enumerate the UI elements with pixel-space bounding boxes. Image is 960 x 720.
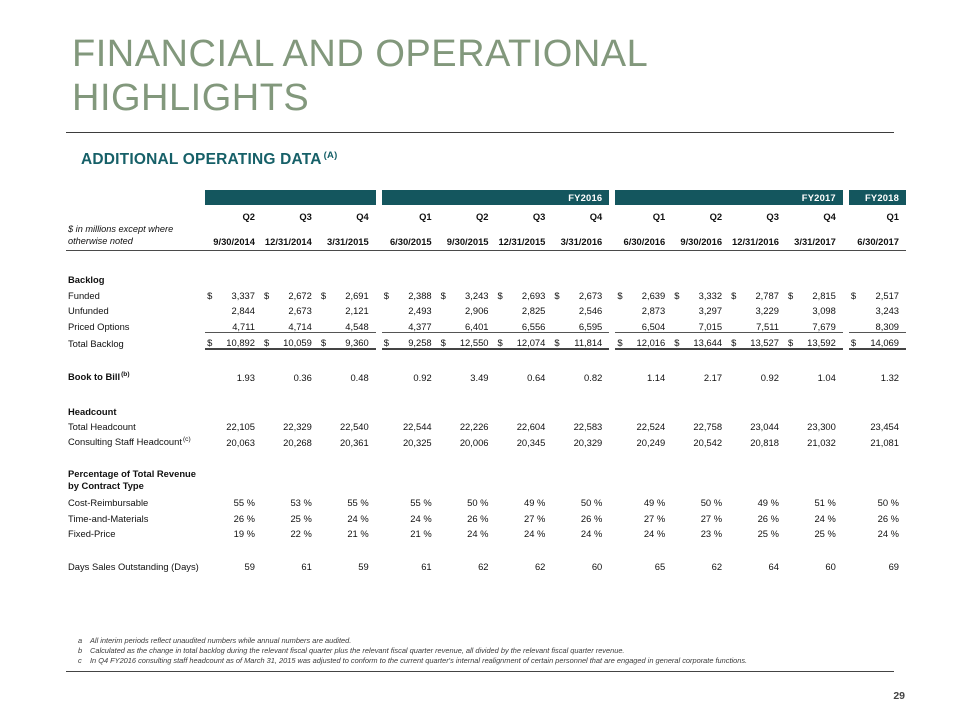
period-end-date: 12/31/2014 — [262, 224, 319, 251]
section-heading-pad — [786, 400, 843, 417]
table-row: Days Sales Outstanding (Days)59615961626… — [66, 556, 906, 572]
data-cell: 20,063 — [205, 432, 262, 448]
section-heading-pad — [262, 400, 319, 417]
quarter-row-stub — [66, 205, 205, 224]
data-cell: 25 % — [262, 508, 319, 524]
data-cell: $2,639 — [615, 285, 672, 301]
data-cell: $12,016 — [615, 332, 672, 349]
data-cell: 21 % — [319, 524, 376, 540]
operating-data-table: FY2016FY2017FY2018 Q2Q3Q4Q1Q2Q3Q4Q1Q2Q3Q… — [66, 190, 906, 572]
row-label: Priced Options — [66, 316, 205, 332]
currency-symbol: $ — [498, 290, 503, 301]
footnote-marker: b — [66, 646, 90, 656]
section-heading: Headcount — [66, 400, 205, 417]
period-end-date: 6/30/2016 — [615, 224, 672, 251]
data-cell: $10,059 — [262, 332, 319, 349]
units-note-line2: otherwise noted — [68, 236, 205, 248]
data-cell: 20,542 — [672, 432, 729, 448]
data-cell: 50 % — [849, 493, 906, 509]
data-cell: 8,309 — [849, 316, 906, 332]
section-heading-pad — [382, 465, 439, 493]
row-label: Unfunded — [66, 301, 205, 317]
currency-symbol: $ — [674, 337, 679, 348]
footnote-marker: a — [66, 636, 90, 646]
table-row: Funded$3,337$2,672$2,691$2,388$3,243$2,6… — [66, 285, 906, 301]
data-cell: 59 — [319, 556, 376, 572]
data-cell: 22,583 — [552, 417, 609, 433]
data-cell: 26 % — [849, 508, 906, 524]
data-cell: 25 % — [729, 524, 786, 540]
quarter-header: Q3 — [729, 205, 786, 224]
section-heading-pad — [439, 465, 496, 493]
section-heading-pad — [615, 465, 672, 493]
section-heading-pad — [552, 465, 609, 493]
data-cell: 6,595 — [552, 316, 609, 332]
title-divider — [66, 132, 894, 133]
data-cell: 26 % — [552, 508, 609, 524]
data-cell: 27 % — [615, 508, 672, 524]
data-cell: 62 — [496, 556, 553, 572]
data-cell: $10,892 — [205, 332, 262, 349]
currency-symbol: $ — [498, 337, 503, 348]
data-cell: $2,388 — [382, 285, 439, 301]
data-cell: 7,015 — [672, 316, 729, 332]
period-end-date: 9/30/2016 — [672, 224, 729, 251]
section-heading-pad — [552, 268, 609, 285]
data-cell: $2,672 — [262, 285, 319, 301]
footnote-text: Calculated as the change in total backlo… — [90, 646, 625, 655]
page-number: 29 — [893, 690, 905, 702]
footnotes: aAll interim periods reflect unaudited n… — [66, 636, 894, 672]
data-cell: 20,249 — [615, 432, 672, 448]
data-cell: $13,592 — [786, 332, 843, 349]
data-cell: 22,226 — [439, 417, 496, 433]
section-heading-row: Percentage of Total Revenueby Contract T… — [66, 465, 906, 493]
table-row: Consulting Staff Headcount(c)20,06320,26… — [66, 432, 906, 448]
data-cell: 60 — [786, 556, 843, 572]
data-cell: 24 % — [439, 524, 496, 540]
section-heading-pad — [439, 268, 496, 285]
section-heading-pad — [439, 400, 496, 417]
table-row: Cost-Reimbursable55 %53 %55 %55 %50 %49 … — [66, 493, 906, 509]
data-cell: 20,361 — [319, 432, 376, 448]
quarter-header: Q2 — [672, 205, 729, 224]
section-heading-pad — [496, 465, 553, 493]
currency-symbol: $ — [851, 337, 856, 348]
period-end-date: 3/31/2016 — [552, 224, 609, 251]
fiscal-year-band-row: FY2016FY2017FY2018 — [66, 190, 906, 205]
data-cell: 22,524 — [615, 417, 672, 433]
table-row: Total Backlog$10,892$10,059$9,360$9,258$… — [66, 332, 906, 349]
period-end-date: 9/30/2015 — [439, 224, 496, 251]
section-spacer — [66, 383, 906, 400]
data-cell: 22,105 — [205, 417, 262, 433]
data-cell: 22,544 — [382, 417, 439, 433]
row-label: Days Sales Outstanding (Days) — [66, 556, 205, 572]
slide: FINANCIAL AND OPERATIONAL HIGHLIGHTS ADD… — [0, 0, 960, 720]
data-cell: 23,300 — [786, 417, 843, 433]
quarter-header: Q4 — [319, 205, 376, 224]
data-cell: 2.17 — [672, 367, 729, 383]
data-cell: $2,673 — [552, 285, 609, 301]
data-cell: $9,360 — [319, 332, 376, 349]
period-end-date-row: $ in millions except whereotherwise note… — [66, 224, 906, 251]
section-spacer — [66, 539, 906, 556]
data-cell: 24 % — [615, 524, 672, 540]
section-heading-pad — [319, 268, 376, 285]
currency-symbol: $ — [731, 290, 736, 301]
data-cell: $14,069 — [849, 332, 906, 349]
data-cell: 2,493 — [382, 301, 439, 317]
footnote-item: bCalculated as the change in total backl… — [66, 646, 894, 656]
data-cell: 20,818 — [729, 432, 786, 448]
currency-symbol: $ — [264, 290, 269, 301]
quarter-header: Q2 — [439, 205, 496, 224]
data-cell: $3,337 — [205, 285, 262, 301]
row-label: Book to Bill(b) — [66, 367, 205, 383]
section-heading-pad — [849, 465, 906, 493]
data-cell: 3,243 — [849, 301, 906, 317]
footnote-marker: c — [66, 656, 90, 666]
data-cell: 1.04 — [786, 367, 843, 383]
currency-symbol: $ — [441, 290, 446, 301]
data-cell: 0.64 — [496, 367, 553, 383]
period-end-date: 9/30/2014 — [205, 224, 262, 251]
section-heading-pad — [319, 465, 376, 493]
quarter-header: Q4 — [786, 205, 843, 224]
section-heading-line1: Percentage of Total Revenue — [68, 468, 205, 481]
data-cell: 2,546 — [552, 301, 609, 317]
data-cell: 55 % — [205, 493, 262, 509]
data-cell: $2,815 — [786, 285, 843, 301]
table-body: BacklogFunded$3,337$2,672$2,691$2,388$3,… — [66, 251, 906, 572]
data-cell: 2,844 — [205, 301, 262, 317]
data-cell: 55 % — [319, 493, 376, 509]
table-row: Time-and-Materials26 %25 %24 %24 %26 %27… — [66, 508, 906, 524]
section-heading-pad — [849, 268, 906, 285]
data-cell: $2,517 — [849, 285, 906, 301]
row-label: Funded — [66, 285, 205, 301]
period-end-date: 3/31/2017 — [786, 224, 843, 251]
data-cell: $2,787 — [729, 285, 786, 301]
data-cell: 0.82 — [552, 367, 609, 383]
data-cell: 3,098 — [786, 301, 843, 317]
section-heading-pad — [262, 268, 319, 285]
subtitle-footnote-marker: (A) — [324, 150, 338, 161]
section-heading-pad — [205, 465, 262, 493]
data-cell: 0.36 — [262, 367, 319, 383]
data-cell: $2,691 — [319, 285, 376, 301]
section-heading-pad — [849, 400, 906, 417]
data-cell: 23 % — [672, 524, 729, 540]
section-heading-pad — [672, 400, 729, 417]
fiscal-year-band-fy2017: FY2017 — [615, 190, 842, 205]
data-cell: 22,540 — [319, 417, 376, 433]
data-cell: 3,297 — [672, 301, 729, 317]
section-heading-pad — [786, 268, 843, 285]
data-cell: 20,345 — [496, 432, 553, 448]
section-heading-pad — [205, 400, 262, 417]
data-cell: 19 % — [205, 524, 262, 540]
table-row: Total Headcount22,10522,32922,54022,5442… — [66, 417, 906, 433]
section-spacer — [66, 448, 906, 465]
data-cell: 50 % — [552, 493, 609, 509]
band-row-stub — [66, 190, 205, 205]
footnote-item: cIn Q4 FY2016 consulting staff headcount… — [66, 656, 894, 666]
period-end-date: 12/31/2016 — [729, 224, 786, 251]
currency-symbol: $ — [207, 290, 212, 301]
section-heading-pad — [672, 268, 729, 285]
subtitle-text: ADDITIONAL OPERATING DATA — [81, 151, 322, 168]
data-cell: 0.48 — [319, 367, 376, 383]
data-cell: 6,556 — [496, 316, 553, 332]
data-cell: 1.32 — [849, 367, 906, 383]
data-cell: 20,329 — [552, 432, 609, 448]
data-cell: 20,006 — [439, 432, 496, 448]
data-cell: 21 % — [382, 524, 439, 540]
section-heading-pad — [552, 400, 609, 417]
data-cell: 27 % — [672, 508, 729, 524]
data-cell: 25 % — [786, 524, 843, 540]
row-footnote-marker: (b) — [121, 371, 129, 378]
quarter-header: Q1 — [849, 205, 906, 224]
data-cell: 22 % — [262, 524, 319, 540]
row-label: Time-and-Materials — [66, 508, 205, 524]
data-cell: 21,032 — [786, 432, 843, 448]
data-cell: 24 % — [382, 508, 439, 524]
data-cell: 22,329 — [262, 417, 319, 433]
data-cell: $12,550 — [439, 332, 496, 349]
data-cell: 49 % — [496, 493, 553, 509]
data-cell: 22,604 — [496, 417, 553, 433]
data-cell: 24 % — [496, 524, 553, 540]
footnote-text: All interim periods reflect unaudited nu… — [90, 636, 351, 645]
data-cell: 65 — [615, 556, 672, 572]
data-cell: $3,332 — [672, 285, 729, 301]
data-cell: 23,044 — [729, 417, 786, 433]
data-cell: 22,758 — [672, 417, 729, 433]
period-end-date: 6/30/2015 — [382, 224, 439, 251]
currency-symbol: $ — [617, 337, 622, 348]
table-header: FY2016FY2017FY2018 Q2Q3Q4Q1Q2Q3Q4Q1Q2Q3Q… — [66, 190, 906, 251]
section-heading-pad — [262, 465, 319, 493]
data-cell: $12,074 — [496, 332, 553, 349]
footnote-divider — [66, 671, 894, 672]
section-heading-pad — [672, 465, 729, 493]
data-cell: 26 % — [729, 508, 786, 524]
currency-symbol: $ — [264, 337, 269, 348]
section-spacer — [66, 251, 906, 269]
section-heading: Percentage of Total Revenueby Contract T… — [66, 465, 205, 493]
data-cell: 62 — [672, 556, 729, 572]
data-cell: $3,243 — [439, 285, 496, 301]
data-cell: $13,644 — [672, 332, 729, 349]
data-cell: 59 — [205, 556, 262, 572]
quarter-header: Q2 — [205, 205, 262, 224]
section-heading-row: Backlog — [66, 268, 906, 285]
data-cell: 7,511 — [729, 316, 786, 332]
section-heading-pad — [729, 268, 786, 285]
data-cell: 20,325 — [382, 432, 439, 448]
currency-symbol: $ — [441, 337, 446, 348]
data-cell: 27 % — [496, 508, 553, 524]
currency-symbol: $ — [788, 337, 793, 348]
section-heading-pad — [382, 268, 439, 285]
fiscal-year-band-fy2016: FY2016 — [382, 190, 609, 205]
currency-symbol: $ — [674, 290, 679, 301]
table-row: Priced Options4,7114,7144,5484,3776,4016… — [66, 316, 906, 332]
units-note-line1: $ in millions except where — [68, 224, 205, 236]
section-heading-pad — [382, 400, 439, 417]
data-cell: 20,268 — [262, 432, 319, 448]
data-cell: 51 % — [786, 493, 843, 509]
data-cell: 0.92 — [382, 367, 439, 383]
section-heading: Backlog — [66, 268, 205, 285]
section-heading-pad — [729, 400, 786, 417]
section-heading-row: Headcount — [66, 400, 906, 417]
section-heading-pad — [205, 268, 262, 285]
currency-symbol: $ — [321, 337, 326, 348]
units-note: $ in millions except whereotherwise note… — [66, 224, 205, 251]
data-cell: 1.14 — [615, 367, 672, 383]
data-cell: 7,679 — [786, 316, 843, 332]
row-label: Fixed-Price — [66, 524, 205, 540]
data-cell: $13,527 — [729, 332, 786, 349]
data-cell: 26 % — [439, 508, 496, 524]
data-cell: 49 % — [729, 493, 786, 509]
data-cell: 2,825 — [496, 301, 553, 317]
period-end-date: 6/30/2017 — [849, 224, 906, 251]
data-cell: 4,377 — [382, 316, 439, 332]
data-cell: $9,258 — [382, 332, 439, 349]
section-subtitle: ADDITIONAL OPERATING DATA(A) — [81, 150, 337, 169]
data-cell: 24 % — [786, 508, 843, 524]
currency-symbol: $ — [321, 290, 326, 301]
row-footnote-marker: (c) — [183, 436, 191, 443]
fiscal-year-band-unlabeled — [205, 190, 376, 205]
currency-symbol: $ — [554, 337, 559, 348]
data-cell: 2,873 — [615, 301, 672, 317]
section-heading-pad — [496, 400, 553, 417]
currency-symbol: $ — [384, 337, 389, 348]
data-cell: 24 % — [849, 524, 906, 540]
currency-symbol: $ — [617, 290, 622, 301]
data-cell: 3,229 — [729, 301, 786, 317]
data-cell: 53 % — [262, 493, 319, 509]
quarter-header: Q1 — [615, 205, 672, 224]
table-row: Book to Bill(b)1.930.360.480.923.490.640… — [66, 367, 906, 383]
data-cell: 60 — [552, 556, 609, 572]
quarter-header: Q1 — [382, 205, 439, 224]
row-label: Total Backlog — [66, 332, 205, 349]
quarter-header: Q3 — [496, 205, 553, 224]
table-row: Unfunded2,8442,6732,1212,4932,9062,8252,… — [66, 301, 906, 317]
data-cell: 64 — [729, 556, 786, 572]
data-cell: 4,714 — [262, 316, 319, 332]
page-title: FINANCIAL AND OPERATIONAL HIGHLIGHTS — [72, 32, 772, 120]
data-cell: 6,504 — [615, 316, 672, 332]
section-heading-pad — [319, 400, 376, 417]
data-cell: 0.92 — [729, 367, 786, 383]
data-cell: 3.49 — [439, 367, 496, 383]
data-cell: 4,711 — [205, 316, 262, 332]
data-cell: 24 % — [552, 524, 609, 540]
row-label: Total Headcount — [66, 417, 205, 433]
data-cell: 1.93 — [205, 367, 262, 383]
data-cell: 49 % — [615, 493, 672, 509]
section-spacer — [66, 349, 906, 367]
period-end-date: 12/31/2015 — [496, 224, 553, 251]
quarter-header: Q3 — [262, 205, 319, 224]
section-heading-pad — [786, 465, 843, 493]
quarter-header-row: Q2Q3Q4Q1Q2Q3Q4Q1Q2Q3Q4Q1 — [66, 205, 906, 224]
data-cell: 50 % — [672, 493, 729, 509]
section-heading-pad — [496, 268, 553, 285]
data-cell: 61 — [382, 556, 439, 572]
currency-symbol: $ — [554, 290, 559, 301]
data-cell: $2,693 — [496, 285, 553, 301]
section-heading-line2: by Contract Type — [68, 480, 205, 493]
table-row: Fixed-Price19 %22 %21 %21 %24 %24 %24 %2… — [66, 524, 906, 540]
row-label: Consulting Staff Headcount(c) — [66, 432, 205, 448]
data-cell: 69 — [849, 556, 906, 572]
row-label: Cost-Reimbursable — [66, 493, 205, 509]
fiscal-year-band-fy2018: FY2018 — [849, 190, 906, 205]
data-cell: 2,673 — [262, 301, 319, 317]
data-cell: 4,548 — [319, 316, 376, 332]
period-end-date: 3/31/2015 — [319, 224, 376, 251]
section-heading-pad — [615, 268, 672, 285]
data-cell: 26 % — [205, 508, 262, 524]
data-cell: 62 — [439, 556, 496, 572]
footnote-text: In Q4 FY2016 consulting staff headcount … — [90, 656, 747, 665]
data-cell: 23,454 — [849, 417, 906, 433]
data-cell: 2,906 — [439, 301, 496, 317]
data-cell: 6,401 — [439, 316, 496, 332]
currency-symbol: $ — [851, 290, 856, 301]
data-cell: 24 % — [319, 508, 376, 524]
data-cell: 21,081 — [849, 432, 906, 448]
quarter-header: Q4 — [552, 205, 609, 224]
data-cell: 50 % — [439, 493, 496, 509]
currency-symbol: $ — [731, 337, 736, 348]
data-cell: 55 % — [382, 493, 439, 509]
data-cell: 2,121 — [319, 301, 376, 317]
footnote-item: aAll interim periods reflect unaudited n… — [66, 636, 894, 646]
data-cell: $11,814 — [552, 332, 609, 349]
currency-symbol: $ — [788, 290, 793, 301]
section-heading-pad — [615, 400, 672, 417]
data-cell: 61 — [262, 556, 319, 572]
operating-data-table-wrap: FY2016FY2017FY2018 Q2Q3Q4Q1Q2Q3Q4Q1Q2Q3Q… — [66, 190, 906, 572]
currency-symbol: $ — [207, 337, 212, 348]
section-heading-pad — [729, 465, 786, 493]
currency-symbol: $ — [384, 290, 389, 301]
